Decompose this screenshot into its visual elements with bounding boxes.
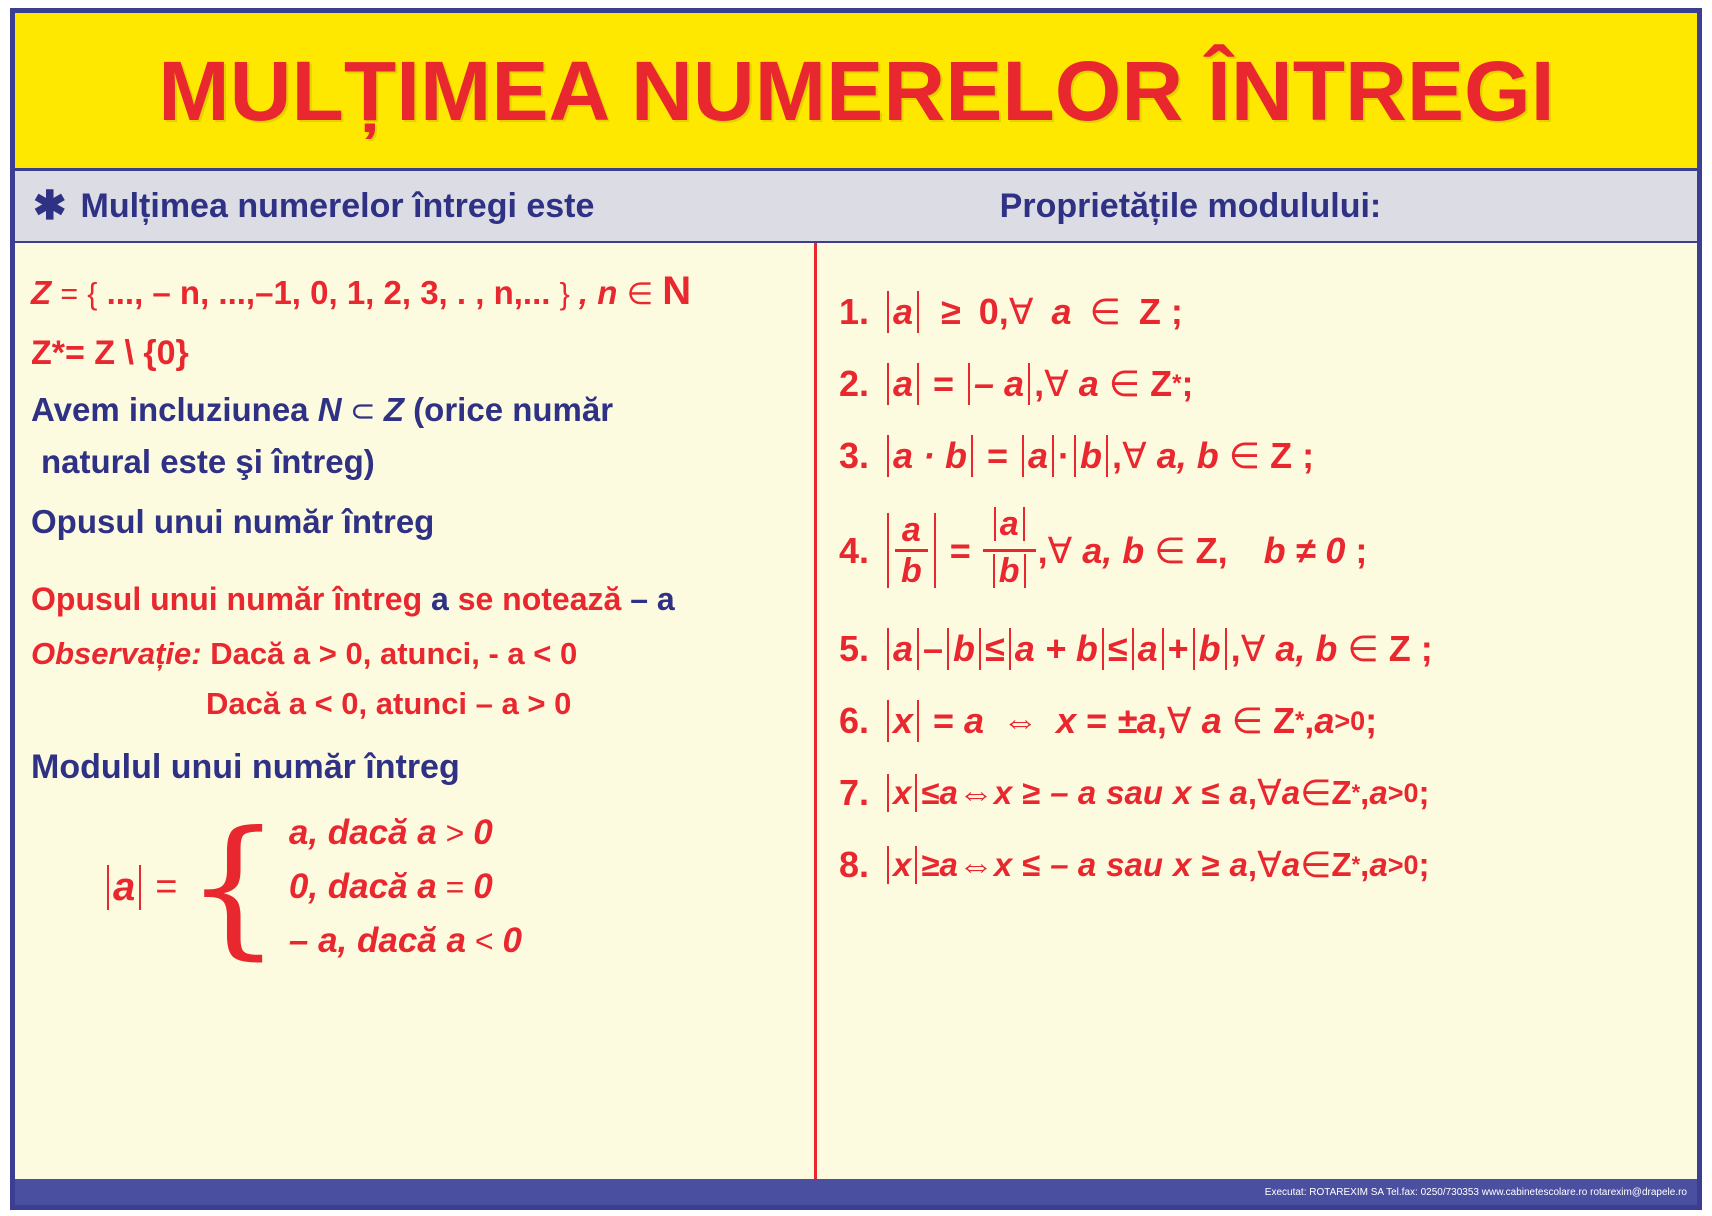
property-number: 7. xyxy=(839,772,869,814)
set-symbol-z: Z xyxy=(31,274,51,311)
dot-operator: · xyxy=(1058,435,1070,477)
property-5: 5. a – b ≤ a + b ≤ a + b, ∀ a, b ∈ xyxy=(839,628,1685,670)
observation-label: Observație: xyxy=(31,636,202,671)
abs-expression-neg: – a xyxy=(964,363,1034,405)
semicolon: ; xyxy=(1302,435,1314,477)
piecewise-lhs-abs-a: a xyxy=(103,865,145,910)
semicolon: ; xyxy=(1421,628,1433,670)
set-close-brace: } xyxy=(560,278,570,311)
set-z: Z xyxy=(1270,435,1292,477)
negative-a: – a xyxy=(1050,774,1096,812)
relation-symbol: ≤ xyxy=(985,628,1005,670)
left-column-header-label: Mulțimea numerelor întregi este xyxy=(81,187,595,226)
inclusion-subset-symbol: ⊂ xyxy=(342,395,384,428)
set-z: Z xyxy=(1331,774,1351,812)
variables-ab: a, b xyxy=(1157,435,1219,477)
element-of-symbol: ∈ xyxy=(1229,435,1260,477)
semicolon: ; xyxy=(1419,774,1430,812)
inclusion-set-n: N xyxy=(318,391,342,428)
star-superscript: * xyxy=(1172,370,1181,398)
poster-frame: MULȚIMEA NUMERELOR ÎNTREGI ✱ Mulțimea nu… xyxy=(10,8,1702,1210)
property-number: 4. xyxy=(839,530,869,572)
abs-a: a xyxy=(883,628,923,670)
fraction: a b xyxy=(893,513,930,588)
condition-var: a xyxy=(1369,774,1387,812)
property-body: x ≥ a ⇔ x ≤ – a sau x ≥ a, ∀ a ∈ xyxy=(883,844,1430,886)
relation-symbol-3: ≥ xyxy=(1201,846,1219,884)
footer-band: Executat: ROTAREXIM SA Tel.fax: 0250/730… xyxy=(15,1179,1697,1205)
variable-a: a xyxy=(1051,291,1071,333)
element-of-symbol: ∈ xyxy=(1232,700,1263,742)
comma: , xyxy=(1304,700,1314,742)
condition-zero: 0 xyxy=(1350,706,1365,737)
column-header-band: ✱ Mulțimea numerelor întregi este Propri… xyxy=(15,171,1697,243)
property-body: x ≤ a ⇔ x ≥ – a sau x ≤ a, ∀ a ∈ xyxy=(883,772,1430,814)
set-open-brace: { xyxy=(87,278,97,311)
forall-symbol: ∀ xyxy=(1167,700,1192,742)
opposite-notation-line: Opusul unui număr întreg a se notează – … xyxy=(31,581,804,618)
heading-modulus: Modulul unui număr întreg xyxy=(31,748,804,787)
forall-symbol: ∀ xyxy=(1257,844,1282,886)
property-number: 2. xyxy=(839,363,869,405)
condition-var: a xyxy=(1314,700,1334,742)
property-body: a = – a, ∀ a ∈ Z* ; xyxy=(883,363,1194,405)
variable-a: a xyxy=(1202,700,1222,742)
right-column-header: Proprietățile modulului: xyxy=(814,171,1697,241)
piecewise-value: a, dacă a xyxy=(289,813,437,852)
inclusion-line-2: natural este şi întreg) xyxy=(31,443,804,481)
element-of-symbol: ∈ xyxy=(1089,291,1120,333)
relation-symbol: ≤ xyxy=(921,774,939,812)
abs-expression-b: b xyxy=(1070,435,1112,477)
relation-symbol-2: ≥ xyxy=(1022,774,1040,812)
abs-a-2: a xyxy=(1128,628,1168,670)
comma: , xyxy=(1248,846,1257,884)
title-band: MULȚIMEA NUMERELOR ÎNTREGI xyxy=(15,13,1697,171)
set-member-symbol: ∈ xyxy=(627,278,653,311)
right-column: 1. a ≥ 0, ∀ a ∈ Z ; 2. xyxy=(814,243,1697,1205)
value-zero: 0 xyxy=(979,291,999,333)
condition-var: a xyxy=(1369,846,1387,884)
variable-a: a xyxy=(1282,846,1300,884)
property-6: 6. x = a ⇔ x = ±a, ∀ a ∈ Z*, a >0 xyxy=(839,700,1685,742)
value-a-2: a xyxy=(1230,846,1248,884)
semicolon: ; xyxy=(1365,700,1377,742)
opposite-var-a: a xyxy=(431,581,449,617)
forall-symbol: ∀ xyxy=(1257,772,1282,814)
property-number: 8. xyxy=(839,844,869,886)
set-z: Z xyxy=(1150,363,1172,405)
set-z: Z xyxy=(1139,291,1161,333)
heading-opposite: Opusul unui număr întreg xyxy=(31,503,804,541)
opposite-text-a: Opusul unui număr întreg xyxy=(31,581,431,617)
property-body: x = a ⇔ x = ±a, ∀ a ∈ Z*, a >0 ; xyxy=(883,700,1377,742)
set-z: Z xyxy=(1273,700,1295,742)
set-naturals-symbol: N xyxy=(662,269,691,313)
variable-x: x xyxy=(994,846,1012,884)
piecewise-zero: 0 xyxy=(502,921,521,960)
relation-symbol-2: ≤ xyxy=(1022,846,1040,884)
relation-symbol: ≥ xyxy=(941,291,961,333)
semicolon: ; xyxy=(1181,363,1193,405)
equals-symbol: = xyxy=(933,700,954,742)
equals-symbol: = xyxy=(950,530,971,572)
semicolon: ; xyxy=(1419,846,1430,884)
semicolon: ; xyxy=(1355,530,1367,572)
inclusion-text-a: Avem incluziunea xyxy=(31,391,318,428)
value-a-2: a xyxy=(1230,774,1248,812)
variable-x: x xyxy=(1056,700,1076,742)
set-z: Z xyxy=(1389,628,1411,670)
value-a: a xyxy=(939,774,957,812)
comma: , xyxy=(1034,363,1044,405)
piecewise-brace-icon: { xyxy=(185,841,280,934)
forall-symbol: ∀ xyxy=(1009,291,1034,333)
equals-symbol: = xyxy=(987,435,1008,477)
relation-symbol-3: ≤ xyxy=(1201,774,1219,812)
set-z: Z xyxy=(1331,846,1351,884)
opposite-text-c: se notează xyxy=(449,581,630,617)
piecewise-zero: 0 xyxy=(473,813,492,852)
element-of-symbol: ∈ xyxy=(1154,530,1185,572)
property-7: 7. x ≤ a ⇔ x ≥ – a sau x ≤ a, ∀ a xyxy=(839,772,1685,814)
property-number: 1. xyxy=(839,291,869,333)
property-1: 1. a ≥ 0, ∀ a ∈ Z ; xyxy=(839,291,1685,333)
abs-fraction-left: a b xyxy=(883,513,940,588)
fraction-denominator-abs: b xyxy=(983,549,1036,594)
piecewise-relation: = xyxy=(437,869,473,905)
page-title: MULȚIMEA NUMERELOR ÎNTREGI xyxy=(158,49,1554,133)
conjunction-sau: sau xyxy=(1106,846,1163,884)
comma: , xyxy=(1360,774,1369,812)
forall-symbol: ∀ xyxy=(1048,530,1073,572)
forall-symbol: ∀ xyxy=(1241,628,1266,670)
z-star-definition: Z*= Z \ {0} xyxy=(31,334,804,373)
element-of-symbol: ∈ xyxy=(1109,363,1140,405)
greater-than-symbol: > xyxy=(1388,850,1404,881)
iff-symbol: ⇔ xyxy=(958,772,994,814)
equals-symbol-2: = xyxy=(1086,700,1107,742)
piecewise-relation: < xyxy=(466,923,502,959)
comma: , xyxy=(1231,628,1241,670)
fraction-of-abs: a b xyxy=(981,507,1038,594)
property-2: 2. a = – a, ∀ a ∈ Z* ; xyxy=(839,363,1685,405)
piecewise-row: – a, dacă a < 0 xyxy=(289,921,522,961)
comma: , xyxy=(1157,700,1167,742)
piecewise-row: a, dacă a > 0 xyxy=(289,813,522,853)
element-of-symbol: ∈ xyxy=(1300,844,1331,886)
abs-a-plus-b: a + b xyxy=(1005,628,1108,670)
right-column-header-label: Proprietățile modulului: xyxy=(1000,187,1382,226)
modulus-piecewise-definition: a = { a, dacă a > 0 0, dacă a = 0 – a, d… xyxy=(31,813,804,961)
property-body: a · b = a · b, ∀ a, b ∈ Z ; xyxy=(883,435,1314,477)
asterisk-icon: ✱ xyxy=(33,192,67,220)
fraction-denominator: b xyxy=(895,549,928,588)
observation-text-1: Dacă a > 0, atunci, - a < 0 xyxy=(202,636,578,671)
condition-b-not-zero: b ≠ 0 xyxy=(1264,530,1346,572)
negative-a: – a xyxy=(1050,846,1096,884)
observation-line-2: Dacă a < 0, atunci – a > 0 xyxy=(31,686,804,722)
fraction-numerator-abs: a xyxy=(984,507,1035,549)
element-of-symbol: ∈ xyxy=(1300,772,1331,814)
set-z: Z xyxy=(1196,530,1218,572)
abs-b: b xyxy=(989,554,1030,588)
abs-x: x xyxy=(883,846,921,884)
comma: , xyxy=(1218,530,1228,572)
plus-minus-a: ±a xyxy=(1117,700,1157,742)
abs-a: a xyxy=(990,507,1029,541)
piecewise-rows: a, dacă a > 0 0, dacă a = 0 – a, dacă a … xyxy=(289,813,522,961)
property-8: 8. x ≥ a ⇔ x ≤ – a sau x ≥ a, ∀ a xyxy=(839,844,1685,886)
abs-b: b xyxy=(943,628,985,670)
poster-root: MULȚIMEA NUMERELOR ÎNTREGI ✱ Mulțimea nu… xyxy=(0,0,1712,1216)
comma: , xyxy=(1112,435,1122,477)
equals-symbol: = xyxy=(933,363,954,405)
piecewise-value: – a, dacă a xyxy=(289,921,466,960)
left-column-header: ✱ Mulțimea numerelor întregi este xyxy=(15,171,814,241)
property-body: a b = a b , ∀ a, b ∈ Z, b ≠ 0 xyxy=(883,507,1367,594)
piecewise-row: 0, dacă a = 0 xyxy=(289,867,522,907)
comma: , xyxy=(1038,530,1048,572)
set-suffix-n: , n xyxy=(579,274,618,311)
variables-ab: a, b xyxy=(1275,628,1337,670)
abs-expression: a xyxy=(883,291,923,333)
comma: , xyxy=(1360,846,1369,884)
relation-symbol: ≥ xyxy=(921,846,939,884)
abs-x: x xyxy=(883,774,921,812)
piecewise-relation: > xyxy=(437,815,473,851)
element-of-symbol: ∈ xyxy=(1347,628,1378,670)
piecewise-value: 0, dacă a xyxy=(289,867,437,906)
comma: , xyxy=(1248,774,1257,812)
property-4: 4. a b = a b , ∀ xyxy=(839,507,1685,594)
set-elements: ..., – n, ...,–1, 0, 1, 2, 3, . , n,... xyxy=(107,274,551,311)
abs-b-2: b xyxy=(1189,628,1231,670)
minus-symbol: – xyxy=(923,628,943,670)
star-superscript: * xyxy=(1352,852,1361,878)
abs-x: x xyxy=(883,700,923,742)
comma: , xyxy=(999,291,1009,333)
conjunction-sau: sau xyxy=(1106,774,1163,812)
variable-a: a xyxy=(1282,774,1300,812)
value-a: a xyxy=(964,700,984,742)
variable-x: x xyxy=(994,774,1012,812)
set-equals: = xyxy=(60,278,78,311)
forall-symbol: ∀ xyxy=(1044,363,1069,405)
observation-line-1: Observație: Dacă a > 0, atunci, - a < 0 xyxy=(31,636,804,672)
set-definition-line: Z = { ..., – n, ...,–1, 0, 1, 2, 3, . , … xyxy=(31,269,804,314)
inclusion-line-1: Avem incluziunea N ⊂ Z (orice număr xyxy=(31,391,804,429)
abs-expression: a xyxy=(883,363,923,405)
semicolon: ; xyxy=(1171,291,1183,333)
relation-symbol-2: ≤ xyxy=(1108,628,1128,670)
footer-credit: Executat: ROTAREXIM SA Tel.fax: 0250/730… xyxy=(1265,1187,1697,1198)
property-number: 5. xyxy=(839,628,869,670)
property-number: 6. xyxy=(839,700,869,742)
greater-than-symbol: > xyxy=(1388,778,1404,809)
iff-symbol: ⇔ xyxy=(1002,700,1038,742)
variable-a: a xyxy=(1079,363,1099,405)
fraction-numerator: a xyxy=(896,513,927,549)
star-superscript: * xyxy=(1352,780,1361,806)
piecewise-equals: = xyxy=(155,866,177,909)
iff-symbol: ⇔ xyxy=(958,844,994,886)
value-a: a xyxy=(939,846,957,884)
condition-zero: 0 xyxy=(1403,778,1418,809)
greater-than-symbol: > xyxy=(1334,706,1350,737)
inclusion-text-e: (orice număr xyxy=(404,391,613,428)
abs-expression-a: a xyxy=(1018,435,1058,477)
poster-body: Z = { ..., – n, ...,–1, 0, 1, 2, 3, . , … xyxy=(15,243,1697,1205)
variable-x-2: x xyxy=(1173,846,1191,884)
property-body: a – b ≤ a + b ≤ a + b, ∀ a, b ∈ Z ; xyxy=(883,628,1433,670)
abs-expression-product: a · b xyxy=(883,435,977,477)
star-superscript: * xyxy=(1295,707,1304,735)
forall-symbol: ∀ xyxy=(1122,435,1147,477)
property-body: a ≥ 0, ∀ a ∈ Z ; xyxy=(883,291,1183,333)
variable-x-2: x xyxy=(1173,774,1191,812)
property-3: 3. a · b = a · b, ∀ a, b ∈ Z ; xyxy=(839,435,1685,477)
variables-ab: a, b xyxy=(1082,530,1144,572)
plus-symbol: + xyxy=(1168,628,1189,670)
condition-zero: 0 xyxy=(1403,850,1418,881)
left-column: Z = { ..., – n, ...,–1, 0, 1, 2, 3, . , … xyxy=(15,243,814,1205)
inclusion-set-z: Z xyxy=(384,391,404,428)
piecewise-zero: 0 xyxy=(473,867,492,906)
opposite-value-minus-a: – a xyxy=(630,581,674,617)
property-number: 3. xyxy=(839,435,869,477)
